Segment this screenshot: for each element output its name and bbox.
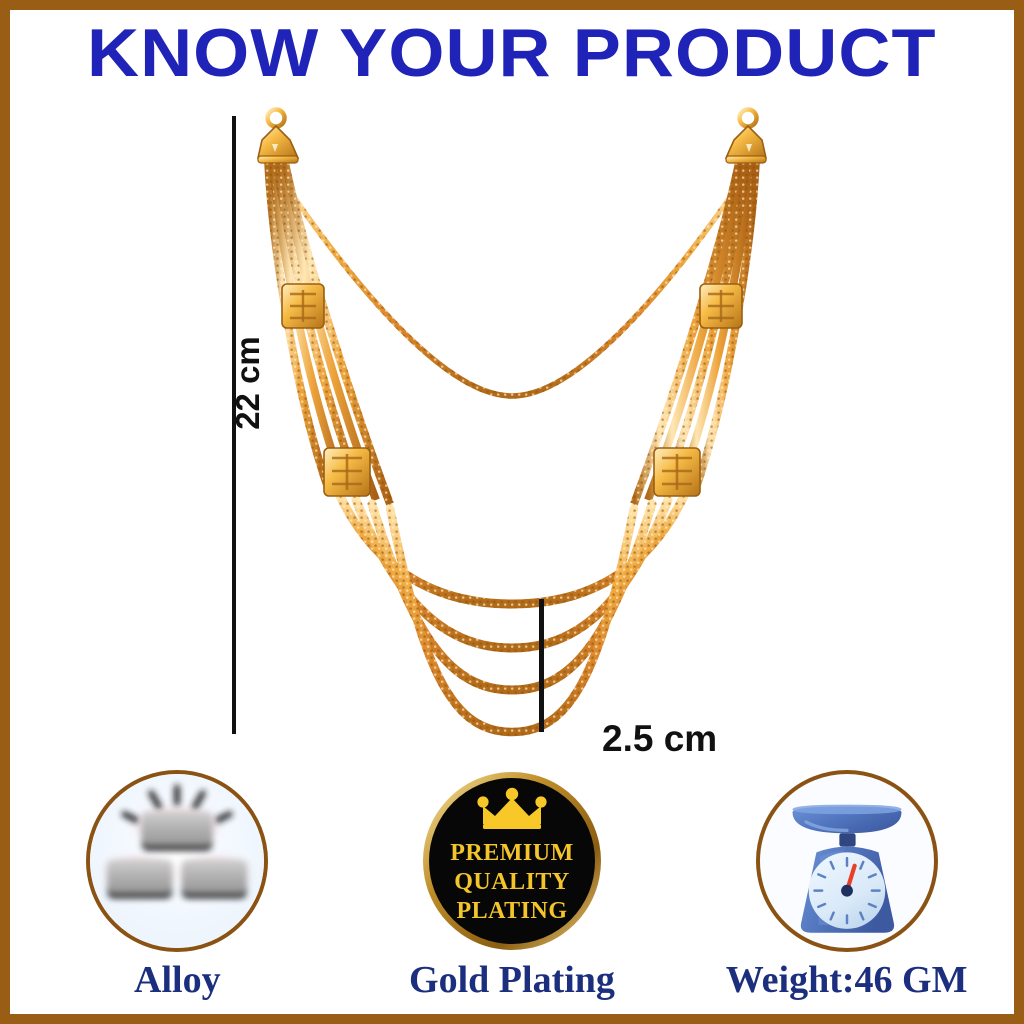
spacer-bar-lower-left bbox=[324, 448, 370, 496]
title-bar: KNOW YOUR PRODUCT bbox=[10, 10, 1014, 96]
seal-line-2: QUALITY bbox=[454, 869, 570, 895]
spacer-bar-upper-right bbox=[700, 284, 742, 328]
top-thin-chain bbox=[278, 174, 746, 396]
ingot-top bbox=[142, 812, 213, 850]
feature-material: Alloy bbox=[27, 770, 327, 1001]
kitchen-scale-icon bbox=[760, 774, 934, 948]
spacer-bar-upper-left bbox=[282, 284, 324, 328]
left-end-cap bbox=[258, 110, 298, 164]
scale-neck bbox=[839, 833, 855, 846]
width-dimension-label: 2.5 cm bbox=[602, 718, 717, 760]
ingot-bottom-left bbox=[108, 860, 173, 898]
metal-ingots-icon bbox=[90, 774, 264, 948]
feature-weight-label: Weight:46 GM bbox=[726, 961, 968, 1001]
scale-pan bbox=[792, 805, 901, 834]
ingot-bottom-right bbox=[182, 860, 247, 898]
weight-badge-circle bbox=[756, 770, 938, 952]
right-end-cap bbox=[726, 110, 766, 164]
width-dimension-line bbox=[539, 599, 544, 732]
product-image-stage: 22 cm 2.5 cm bbox=[10, 96, 1014, 756]
product-infographic-page: KNOW YOUR PRODUCT bbox=[0, 0, 1024, 1024]
feature-plating: PREMIUM QUALITY PLATING Gold Plating bbox=[362, 770, 662, 1001]
seal-text-group: PREMIUM QUALITY PLATING bbox=[450, 840, 573, 924]
plating-badge-circle: PREMIUM QUALITY PLATING bbox=[421, 770, 603, 952]
height-dimension-label: 22 cm bbox=[229, 313, 267, 453]
seal-line-3: PLATING bbox=[456, 898, 567, 924]
feature-weight: Weight:46 GM bbox=[697, 770, 997, 1001]
spacer-bar-lower-right bbox=[654, 448, 700, 496]
cascading-chain-arcs bbox=[340, 496, 684, 732]
feature-plating-label: Gold Plating bbox=[409, 961, 615, 1001]
necklace-illustration bbox=[10, 96, 1014, 756]
seal-line-1: PREMIUM bbox=[450, 840, 573, 866]
feature-material-label: Alloy bbox=[134, 961, 221, 1001]
feature-badge-row: Alloy bbox=[10, 770, 1014, 1014]
dial-center-pin bbox=[841, 885, 853, 897]
alloy-badge-circle bbox=[86, 770, 268, 952]
page-title: KNOW YOUR PRODUCT bbox=[87, 19, 937, 87]
premium-quality-seal-icon: PREMIUM QUALITY PLATING bbox=[421, 770, 603, 952]
